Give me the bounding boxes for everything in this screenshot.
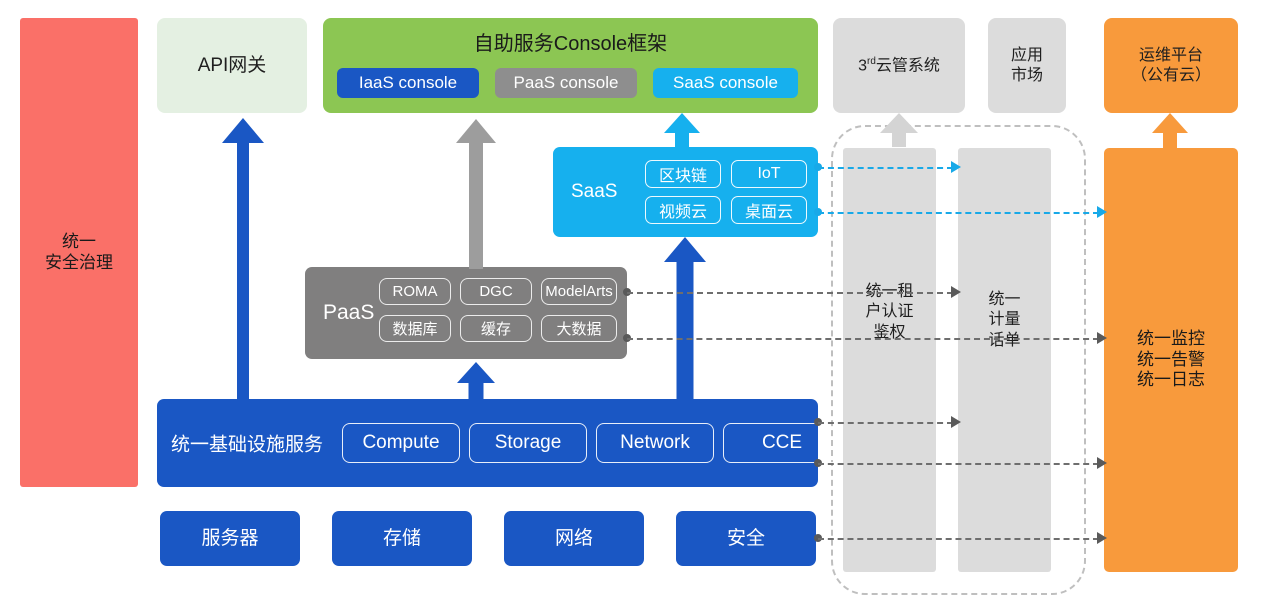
- saas-service-desktop-cloud-label: 桌面云: [745, 198, 793, 222]
- infra-service-storage-label: Storage: [495, 432, 562, 454]
- self-service-console-frame: 自助服务Console框架 IaaS console PaaS console …: [323, 18, 818, 113]
- infra-service-network-label: Network: [620, 432, 690, 454]
- paas-service-database-label: 数据库: [392, 318, 437, 339]
- metering-line-1: 统一: [958, 290, 1051, 310]
- metering-line-3: 话单: [958, 331, 1051, 351]
- app-market-box: 应用 市场: [988, 18, 1066, 113]
- unified-monitoring-column: 统一监控 统一告警 统一日志: [1104, 148, 1238, 572]
- monitoring-line-2: 统一告警: [1137, 350, 1205, 371]
- paas-service-cache-label: 缓存: [481, 318, 511, 339]
- connector-arrowhead-paas-to-monitoring: [1097, 332, 1107, 344]
- metering-line-2: 计量: [958, 310, 1051, 330]
- bottom-box-storage-label: 存储: [383, 527, 421, 550]
- paas-service-dgc-label: DGC: [479, 283, 512, 300]
- app-market-line-1: 应用: [1011, 46, 1043, 66]
- infra-service-compute[interactable]: Compute: [342, 423, 460, 463]
- infra-service-cce[interactable]: CCE: [723, 423, 841, 463]
- connector-infra-to-monitoring: [818, 463, 1099, 465]
- security-governance-line-2: 安全治理: [45, 253, 113, 274]
- unified-infrastructure-label: 统一基础设施服务: [171, 430, 323, 457]
- bottom-box-server-label: 服务器: [201, 527, 258, 550]
- paas-service-bigdata[interactable]: 大数据: [541, 315, 617, 342]
- paas-service-bigdata-label: 大数据: [556, 318, 601, 339]
- chip-saas-console[interactable]: SaaS console: [653, 68, 798, 98]
- architecture-diagram: 统一 安全治理 API网关 自助服务Console框架 IaaS console…: [0, 0, 1265, 605]
- paas-service-roma-label: ROMA: [393, 283, 438, 300]
- connector-bottom-to-monitoring: [818, 538, 1099, 540]
- infra-service-compute-label: Compute: [362, 432, 439, 454]
- arrow-saas-to-console: [664, 113, 700, 149]
- ops-platform-line-1: 运维平台: [1131, 46, 1211, 66]
- paas-service-database[interactable]: 数据库: [379, 315, 451, 342]
- bottom-box-network[interactable]: 网络: [504, 511, 644, 566]
- connector-arrowhead-paas-to-metering: [951, 286, 961, 298]
- connector-paas-to-monitoring: [627, 338, 1099, 340]
- ops-platform-top-box: 运维平台 （公有云）: [1104, 18, 1238, 113]
- unified-infrastructure-bar: 统一基础设施服务 Compute Storage Network CCE: [157, 399, 818, 487]
- api-gateway-label: API网关: [198, 54, 267, 77]
- bottom-box-network-label: 网络: [555, 527, 593, 550]
- monitoring-line-1: 统一监控: [1137, 329, 1205, 350]
- arrow-infra-to-api-gateway: [222, 118, 264, 399]
- arrow-infra-to-saas: [664, 237, 706, 399]
- connector-arrowhead-infra-to-monitoring: [1097, 457, 1107, 469]
- unified-security-governance-column: 统一 安全治理: [20, 18, 138, 487]
- connector-arrowhead-saas-to-monitoring: [1097, 206, 1107, 218]
- saas-service-iot-label: IoT: [757, 165, 780, 183]
- chip-paas-console-label: PaaS console: [514, 73, 619, 93]
- connector-saas-to-metering: [818, 167, 953, 169]
- saas-service-video-cloud[interactable]: 视频云: [645, 196, 721, 224]
- console-frame-title: 自助服务Console框架: [323, 27, 818, 56]
- bottom-box-security-label: 安全: [727, 527, 765, 550]
- tenant-auth-line-2: 户认证: [843, 302, 936, 322]
- saas-service-iot[interactable]: IoT: [731, 160, 807, 188]
- connector-paas-to-metering: [627, 292, 953, 294]
- bottom-box-server[interactable]: 服务器: [160, 511, 300, 566]
- saas-label: SaaS: [571, 181, 617, 203]
- infra-service-cce-label: CCE: [762, 432, 802, 454]
- paas-panel: PaaS ROMA DGC ModelArts 数据库 缓存 大数据: [305, 267, 627, 359]
- saas-panel: SaaS 区块链 IoT 视频云 桌面云: [553, 147, 818, 237]
- app-market-line-2: 市场: [1011, 66, 1043, 86]
- chip-iaas-console[interactable]: IaaS console: [337, 68, 479, 98]
- connector-arrowhead-infra-to-metering: [951, 416, 961, 428]
- monitoring-line-3: 统一日志: [1137, 370, 1205, 391]
- connector-arrowhead-saas-to-metering: [951, 161, 961, 173]
- arrow-to-third-party-cloud-mgmt: [880, 113, 918, 147]
- paas-service-dgc[interactable]: DGC: [460, 278, 532, 305]
- paas-service-modelarts[interactable]: ModelArts: [541, 278, 617, 305]
- arrow-to-ops-platform: [1152, 113, 1188, 149]
- chip-iaas-console-label: IaaS console: [359, 73, 457, 93]
- saas-service-blockchain-label: 区块链: [659, 162, 707, 186]
- paas-service-cache[interactable]: 缓存: [460, 315, 532, 342]
- chip-paas-console[interactable]: PaaS console: [495, 68, 637, 98]
- paas-service-modelarts-label: ModelArts: [545, 283, 613, 300]
- arrow-paas-to-console: [456, 119, 496, 269]
- api-gateway-box: API网关: [157, 18, 307, 113]
- unified-metering-billing-label: 统一 计量 话单: [958, 290, 1051, 351]
- connector-saas-to-monitoring: [818, 212, 1099, 214]
- connector-arrowhead-bottom-to-monitoring: [1097, 532, 1107, 544]
- third-party-cloud-mgmt-label: 3rd云管系统: [858, 56, 940, 76]
- infra-service-storage[interactable]: Storage: [469, 423, 587, 463]
- tenant-auth-line-3: 鉴权: [843, 323, 936, 343]
- connector-infra-to-metering: [818, 422, 953, 424]
- bottom-box-storage[interactable]: 存储: [332, 511, 472, 566]
- infra-service-network[interactable]: Network: [596, 423, 714, 463]
- chip-saas-console-label: SaaS console: [673, 73, 778, 93]
- paas-label: PaaS: [323, 301, 374, 325]
- security-governance-line-1: 统一: [45, 232, 113, 253]
- saas-service-video-cloud-label: 视频云: [659, 198, 707, 222]
- saas-service-blockchain[interactable]: 区块链: [645, 160, 721, 188]
- third-party-cloud-mgmt-box: 3rd云管系统: [833, 18, 965, 113]
- ops-platform-line-2: （公有云）: [1131, 66, 1211, 86]
- paas-service-roma[interactable]: ROMA: [379, 278, 451, 305]
- arrow-infra-to-paas: [457, 362, 495, 400]
- saas-service-desktop-cloud[interactable]: 桌面云: [731, 196, 807, 224]
- bottom-box-security[interactable]: 安全: [676, 511, 816, 566]
